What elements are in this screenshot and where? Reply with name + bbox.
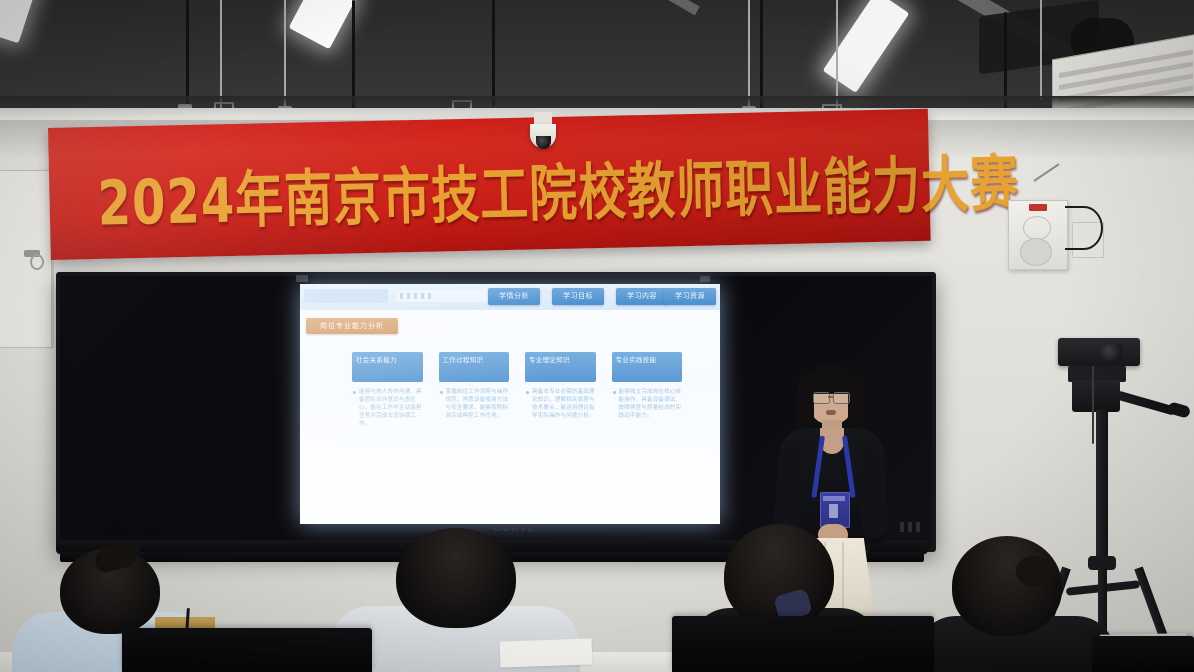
audience-member-2-head [396,528,516,628]
toolbar-text-placeholder [400,293,434,299]
hanging-rod [284,0,286,110]
banner-title: 2024年南京市技工院校教师职业能力大赛 [97,135,911,242]
slide-card-heading: 工作过程知识 [439,352,510,382]
slide-card: 工作过程知识 掌握岗位工作流程与操作规范，熟悉设备使用方法与安全要求，能够按照标… [439,352,510,512]
hanging-rod [220,0,222,108]
wall-access-panel[interactable] [0,170,52,348]
presenter-arm-right [858,445,889,538]
presenter-mouth [826,410,836,415]
display-control-buttons[interactable] [900,522,924,532]
audience-member-4-hair-bun [1016,556,1050,586]
speaker-label [1029,204,1047,211]
display-brand-logo: CONVE [484,523,546,534]
video-camera-body [1058,338,1140,366]
slide-card-body: 能够与他人协作沟通，具备团队合作意识与责任心，能在工作中主动承担任务并完成交流协… [352,388,423,428]
slide-card-heading: 社会关系能力 [352,352,423,382]
tripod-pan-handle[interactable] [1115,390,1177,416]
slide-nav-button-2[interactable]: 学习目标 [552,288,604,305]
laptop-screen[interactable] [1092,636,1194,672]
camera-lens-icon [1100,344,1122,360]
hanging-cable [186,0,189,108]
badge-photo [829,504,838,518]
hanging-cable [492,0,495,106]
speaker-cable [1065,206,1103,250]
speaker-driver [1023,216,1051,240]
speaker-driver [1020,238,1052,266]
ceiling-light-tube [0,0,38,43]
slide-card-body: 具备本专业必需的基础理论知识，理解相关原理与技术要点，能运用理论指导实际操作与问… [525,388,596,420]
slide-nav-button-4[interactable]: 学习资源 [664,288,716,305]
slide-toolbar: 学情分析 学习目标 学习内容 学习资源 [300,284,720,310]
glasses-bridge [828,396,833,398]
slide-card-row: 社会关系能力 能够与他人协作沟通，具备团队合作意识与责任心，能在工作中主动承担任… [352,352,682,512]
competition-banner: 2024年南京市技工院校教师职业能力大赛 [48,109,931,260]
laptop-screen[interactable] [122,628,372,672]
camera-cable [1092,366,1094,444]
glasses-icon [833,392,850,404]
slide-card: 社会关系能力 能够与他人协作沟通，具备团队合作意识与责任心，能在工作中主动承担任… [352,352,423,512]
badge-header-strip [823,496,845,501]
slide-card-body: 掌握岗位工作流程与操作规范，熟悉设备使用方法与安全要求，能够按照标准完成典型工作… [439,388,510,420]
display-sensor-icon [700,276,710,282]
slide-card-heading: 专业理论知识 [525,352,596,382]
slide-card: 专业理论知识 具备本专业必需的基础理论知识，理解相关原理与技术要点，能运用理论指… [525,352,596,512]
glasses-icon [813,392,830,404]
projected-slide: 学情分析 学习目标 学习内容 学习资源 岗位专业能力分析 社会关系能力 能够与他… [300,284,720,524]
audience-member-4-head [952,536,1062,636]
hanging-rod [1040,0,1042,100]
pan-handle-grip[interactable] [1167,401,1191,419]
presentation-room-photo: 2024年南京市技工院校教师职业能力大赛 学情分析 学习目标 学习内容 学习资源… [0,0,1194,672]
display-sensor-icon [296,275,308,282]
paper-document [500,638,593,667]
slide-nav-button-1[interactable]: 学情分析 [488,288,540,305]
slide-card-body: 能够独立完成岗位核心技能操作，具备设备调试、故障排查与质量检测的实践动手能力。 [612,388,683,420]
slide-section-badge: 岗位专业能力分析 [306,318,398,334]
laptop-screen[interactable] [672,616,934,672]
ceiling-light-tube [289,0,358,49]
ceiling-light-housing [660,0,700,15]
tripod-head[interactable] [1072,380,1120,412]
slide-card-heading: 专业实践技能 [612,352,683,382]
panel-lock-icon [30,254,44,270]
slide-card: 专业实践技能 能够独立完成岗位核心技能操作，具备设备调试、故障排查与质量检测的实… [612,352,683,512]
toolbar-logo-block [304,289,388,303]
tripod-center-column [1096,410,1108,570]
slide-nav-button-3[interactable]: 学习内容 [616,288,668,305]
